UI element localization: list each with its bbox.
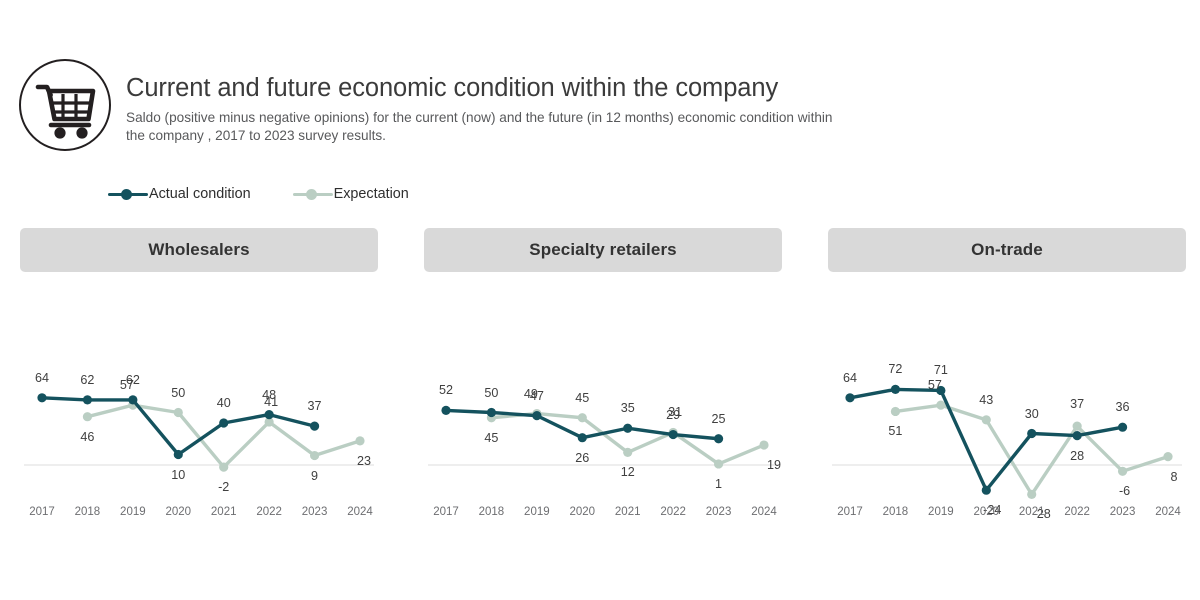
data-label: 46 <box>80 430 94 444</box>
data-point[interactable] <box>714 434 723 443</box>
data-label: 36 <box>1116 400 1130 414</box>
data-point[interactable] <box>891 407 900 416</box>
legend-swatch-actual-condition <box>108 187 148 201</box>
data-label: 37 <box>308 399 322 413</box>
data-point[interactable] <box>623 424 632 433</box>
data-point[interactable] <box>1027 429 1036 438</box>
page-header: Current and future economic condition wi… <box>0 0 1200 180</box>
data-point[interactable] <box>578 413 587 422</box>
data-point[interactable] <box>37 393 46 402</box>
data-label: 43 <box>979 393 993 407</box>
chart-panel-wholesalers: Wholesalers 64626210404837465750-2419232… <box>20 228 378 528</box>
data-point[interactable] <box>1073 422 1082 431</box>
x-axis-tick-2019: 2019 <box>524 506 550 518</box>
data-label: 35 <box>621 401 635 415</box>
data-point[interactable] <box>310 422 319 431</box>
data-label: 25 <box>712 412 726 426</box>
data-point[interactable] <box>982 415 991 424</box>
legend-label-actual-condition: Actual condition <box>149 186 251 202</box>
x-axis-tick-2023: 2023 <box>1110 506 1136 518</box>
chart-legend: Actual condition Expectation <box>108 186 409 202</box>
plot-svg <box>424 280 782 528</box>
plot-area-specialty-retailers: 5250472635292545494512311192017201820192… <box>424 280 782 528</box>
data-point[interactable] <box>623 448 632 457</box>
x-axis-tick-2024: 2024 <box>751 506 777 518</box>
data-point[interactable] <box>714 459 723 468</box>
data-label: 41 <box>264 395 278 409</box>
data-label: 26 <box>575 451 589 465</box>
data-label: 8 <box>1170 470 1177 484</box>
data-point[interactable] <box>174 408 183 417</box>
panel-title-on-trade: On-trade <box>971 240 1043 260</box>
data-point[interactable] <box>441 406 450 415</box>
data-point[interactable] <box>1027 490 1036 499</box>
legend-swatch-expectation <box>293 187 333 201</box>
x-axis-tick-2021: 2021 <box>615 506 641 518</box>
series-line-expectation <box>87 405 360 467</box>
x-axis: 20172018201920202021202220232024 <box>424 506 782 528</box>
data-label: 62 <box>80 373 94 387</box>
data-point[interactable] <box>1118 423 1127 432</box>
page-subtitle: Saldo (positive minus negative opinions)… <box>126 109 836 147</box>
data-point[interactable] <box>219 418 228 427</box>
x-axis-tick-2019: 2019 <box>120 506 146 518</box>
panel-header-specialty-retailers: Specialty retailers <box>424 228 782 272</box>
data-label: 64 <box>35 371 49 385</box>
panel-header-on-trade: On-trade <box>828 228 1186 272</box>
data-point[interactable] <box>310 451 319 460</box>
x-axis-tick-2018: 2018 <box>883 506 909 518</box>
data-label: 31 <box>668 405 682 419</box>
data-point[interactable] <box>1118 467 1127 476</box>
data-point[interactable] <box>532 411 541 420</box>
data-label: 51 <box>888 424 902 438</box>
title-block: Current and future economic condition wi… <box>126 74 886 146</box>
x-axis-tick-2024: 2024 <box>347 506 373 518</box>
x-axis-tick-2019: 2019 <box>928 506 954 518</box>
data-label: 28 <box>1070 449 1084 463</box>
x-axis-tick-2017: 2017 <box>433 506 459 518</box>
data-point[interactable] <box>1073 431 1082 440</box>
legend-label-expectation: Expectation <box>334 186 409 202</box>
legend-item-actual-condition[interactable]: Actual condition <box>108 186 251 202</box>
plot-svg <box>828 280 1186 528</box>
data-label: 19 <box>767 458 781 472</box>
x-axis-tick-2023: 2023 <box>302 506 328 518</box>
data-point[interactable] <box>891 385 900 394</box>
legend-item-expectation[interactable]: Expectation <box>293 186 409 202</box>
x-axis-tick-2021: 2021 <box>211 506 237 518</box>
data-label: -6 <box>1119 484 1130 498</box>
data-label: 12 <box>621 465 635 479</box>
x-axis-tick-2018: 2018 <box>479 506 505 518</box>
data-label: 64 <box>843 371 857 385</box>
x-axis-tick-2022: 2022 <box>1064 506 1090 518</box>
data-label: 40 <box>217 396 231 410</box>
x-axis-tick-2020: 2020 <box>569 506 595 518</box>
data-point[interactable] <box>845 393 854 402</box>
data-point[interactable] <box>1163 452 1172 461</box>
data-label: 30 <box>1025 407 1039 421</box>
data-point[interactable] <box>83 395 92 404</box>
data-label: 50 <box>171 386 185 400</box>
panel-title-wholesalers: Wholesalers <box>148 240 249 260</box>
x-axis-tick-2017: 2017 <box>29 506 55 518</box>
x-axis-tick-2017: 2017 <box>837 506 863 518</box>
data-point[interactable] <box>982 486 991 495</box>
data-point[interactable] <box>265 410 274 419</box>
data-label: 71 <box>934 363 948 377</box>
x-axis-tick-2024: 2024 <box>1155 506 1181 518</box>
x-axis: 20172018201920202021202220232024 <box>828 506 1186 528</box>
data-label: 1 <box>715 477 722 491</box>
data-label: 9 <box>311 469 318 483</box>
x-axis-tick-2021: 2021 <box>1019 506 1045 518</box>
data-label: 37 <box>1070 397 1084 411</box>
chart-page: Current and future economic condition wi… <box>0 0 1200 600</box>
plot-area-on-trade: 647271-24302836515743-2837-6820172018201… <box>828 280 1186 528</box>
data-point[interactable] <box>669 430 678 439</box>
x-axis-tick-2022: 2022 <box>256 506 282 518</box>
data-point[interactable] <box>578 433 587 442</box>
x-axis-tick-2022: 2022 <box>660 506 686 518</box>
page-title: Current and future economic condition wi… <box>126 74 886 103</box>
panel-title-specialty-retailers: Specialty retailers <box>529 240 676 260</box>
data-point[interactable] <box>219 463 228 472</box>
data-point[interactable] <box>128 395 137 404</box>
plot-svg <box>20 280 378 528</box>
data-label: 23 <box>357 454 371 468</box>
chart-panel-on-trade: On-trade 647271-24302836515743-2837-6820… <box>828 228 1186 528</box>
panel-header-wholesalers: Wholesalers <box>20 228 378 272</box>
chart-panel-specialty-retailers: Specialty retailers 52504726352925454945… <box>424 228 782 528</box>
data-point[interactable] <box>174 450 183 459</box>
data-label: 57 <box>120 378 134 392</box>
x-axis-tick-2020: 2020 <box>165 506 191 518</box>
data-point[interactable] <box>487 408 496 417</box>
data-label: 45 <box>484 431 498 445</box>
data-label: -2 <box>218 480 229 494</box>
plot-area-wholesalers: 64626210404837465750-2419232017201820192… <box>20 280 378 528</box>
data-point[interactable] <box>355 436 364 445</box>
data-label: 10 <box>171 468 185 482</box>
data-label: 72 <box>888 362 902 376</box>
data-label: 45 <box>575 391 589 405</box>
data-point[interactable] <box>936 401 945 410</box>
data-point[interactable] <box>83 412 92 421</box>
data-label: 49 <box>524 387 538 401</box>
data-point[interactable] <box>759 440 768 449</box>
data-label: 50 <box>484 386 498 400</box>
x-axis-tick-2018: 2018 <box>75 506 101 518</box>
data-label: 57 <box>928 378 942 392</box>
x-axis-tick-2020: 2020 <box>973 506 999 518</box>
data-label: 52 <box>439 383 453 397</box>
shopping-cart-icon <box>18 58 112 152</box>
x-axis: 20172018201920202021202220232024 <box>20 506 378 528</box>
x-axis-tick-2023: 2023 <box>706 506 732 518</box>
